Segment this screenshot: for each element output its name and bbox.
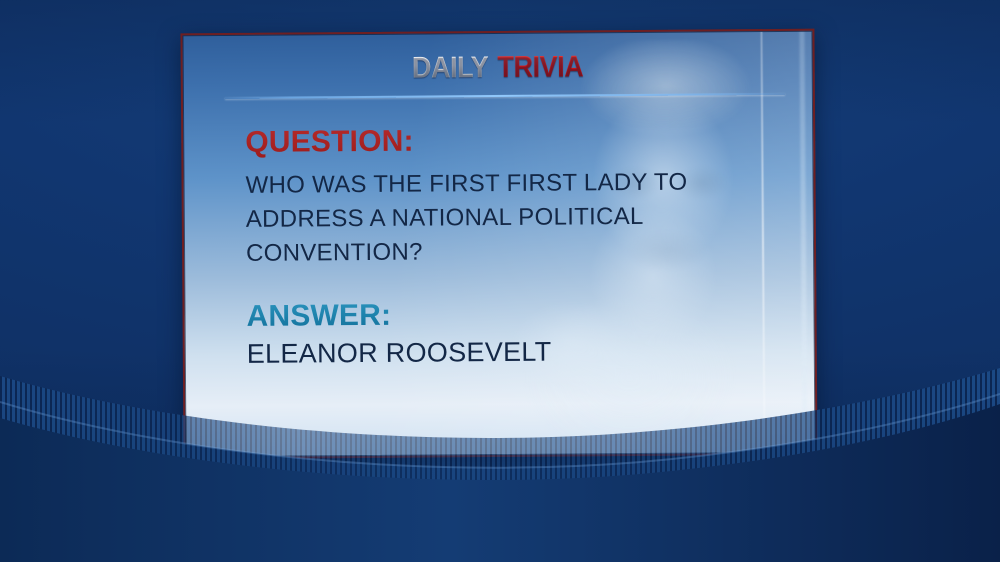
question-line-2: ADDRESS A NATIONAL POLITICAL (246, 198, 784, 236)
answer-text: ELEANOR ROOSEVELT (247, 334, 785, 370)
daily-trivia-logo: DAILYTRIVIA (183, 51, 813, 86)
question-label: QUESTION: (245, 123, 783, 158)
trivia-content: QUESTION: WHO WAS THE FIRST FIRST LADY T… (245, 123, 785, 371)
logo-word-daily: DAILY (412, 53, 488, 84)
trivia-graphic: DAILYTRIVIA QUESTION: WHO WAS THE FIRST … (0, 0, 1000, 562)
question-line-1: WHO WAS THE FIRST FIRST LADY TO (245, 164, 783, 202)
trivia-card: DAILYTRIVIA QUESTION: WHO WAS THE FIRST … (180, 29, 817, 460)
logo-word-trivia: TRIVIA (497, 52, 583, 83)
trivia-card-surface: DAILYTRIVIA QUESTION: WHO WAS THE FIRST … (180, 29, 817, 460)
question-line-3: CONVENTION? (246, 233, 784, 271)
answer-label: ANSWER: (246, 297, 784, 332)
